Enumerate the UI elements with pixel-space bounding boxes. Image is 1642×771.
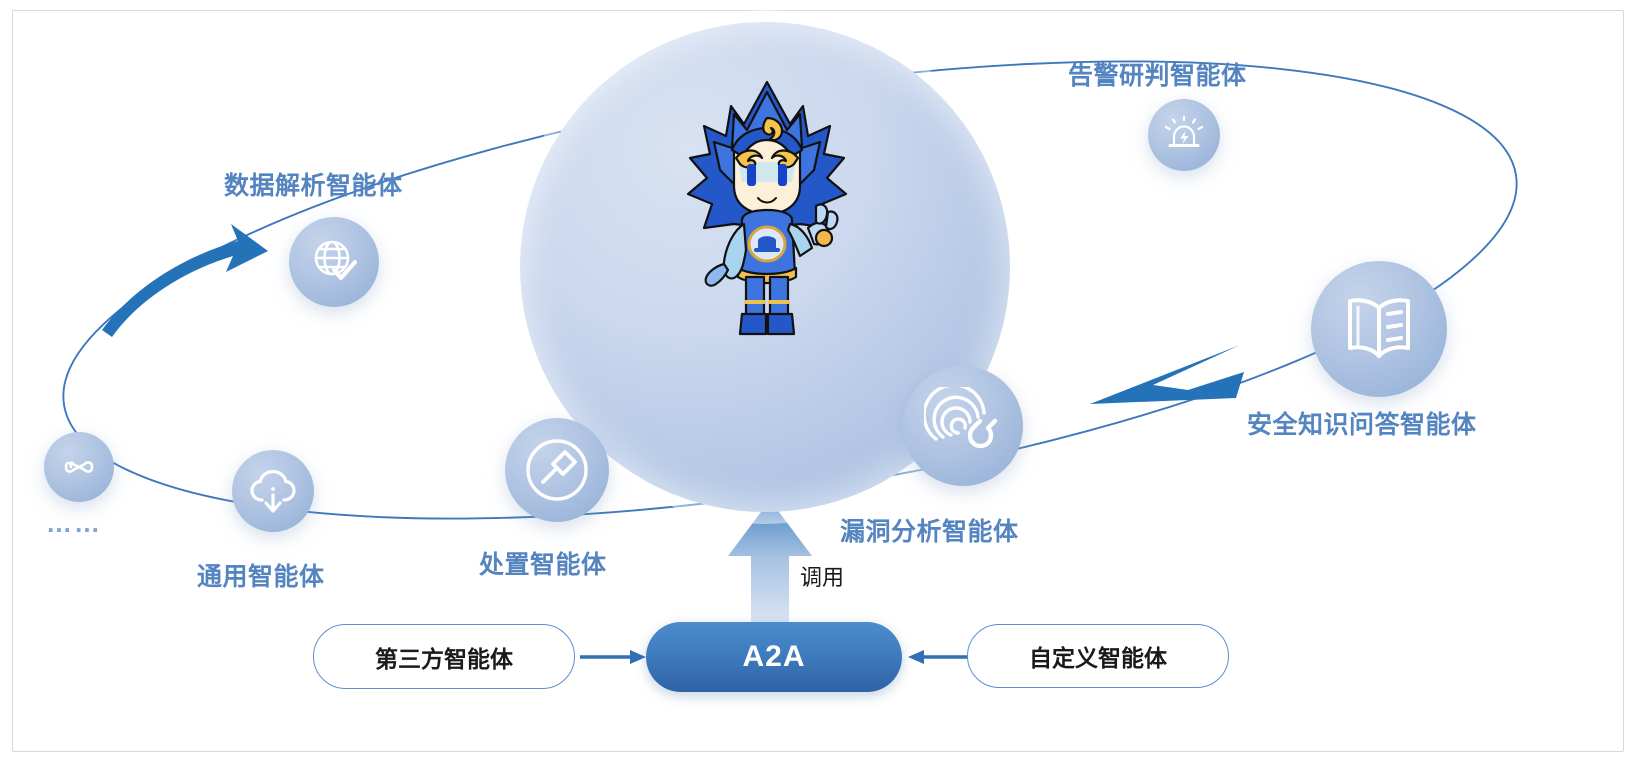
agent-label-disposal: 处置智能体 (479, 545, 607, 581)
third-party-agent-button[interactable]: 第三方智能体 (313, 624, 575, 689)
agent-label-general: 通用智能体 (197, 557, 325, 593)
fingerprint-wrench-icon (924, 387, 1002, 465)
agent-label-knowledge-qa: 安全知识问答智能体 (1247, 405, 1477, 441)
agent-node-more[interactable] (44, 432, 114, 502)
mascot-character (672, 78, 862, 348)
agent-node-alert-judge[interactable] (1148, 99, 1220, 171)
arrow-custom-to-a2a (908, 650, 972, 664)
arrow-thirdparty-to-a2a (580, 650, 646, 664)
agent-node-disposal[interactable] (505, 418, 609, 522)
agent-label-data-parse: 数据解析智能体 (224, 166, 403, 202)
infinity-icon (56, 444, 102, 490)
agent-node-vuln-analyze[interactable] (903, 366, 1023, 486)
alarm-siren-icon (1162, 113, 1206, 157)
agent-label-alert-judge: 告警研判智能体 (1068, 56, 1247, 92)
agent-node-data-parse[interactable] (289, 217, 379, 307)
custom-agent-button[interactable]: 自定义智能体 (967, 624, 1229, 688)
gavel-circle-icon (521, 434, 593, 506)
agent-label-more: …… (46, 508, 102, 539)
agent-node-knowledge-qa[interactable] (1311, 261, 1447, 397)
cloud-download-icon (246, 464, 300, 518)
diagram-canvas: 数据解析智能体 告警研判智能体 (0, 0, 1642, 771)
orbit-arrow-left (102, 224, 268, 337)
orbit-arrow-right (1090, 345, 1244, 404)
call-arrow-label: 调用 (800, 560, 844, 592)
a2a-node[interactable]: A2A (646, 622, 902, 692)
open-book-icon (1336, 286, 1422, 372)
globe-check-icon (308, 236, 360, 288)
agent-label-vuln-analyze: 漏洞分析智能体 (840, 512, 1019, 548)
agent-node-general[interactable] (232, 450, 314, 532)
